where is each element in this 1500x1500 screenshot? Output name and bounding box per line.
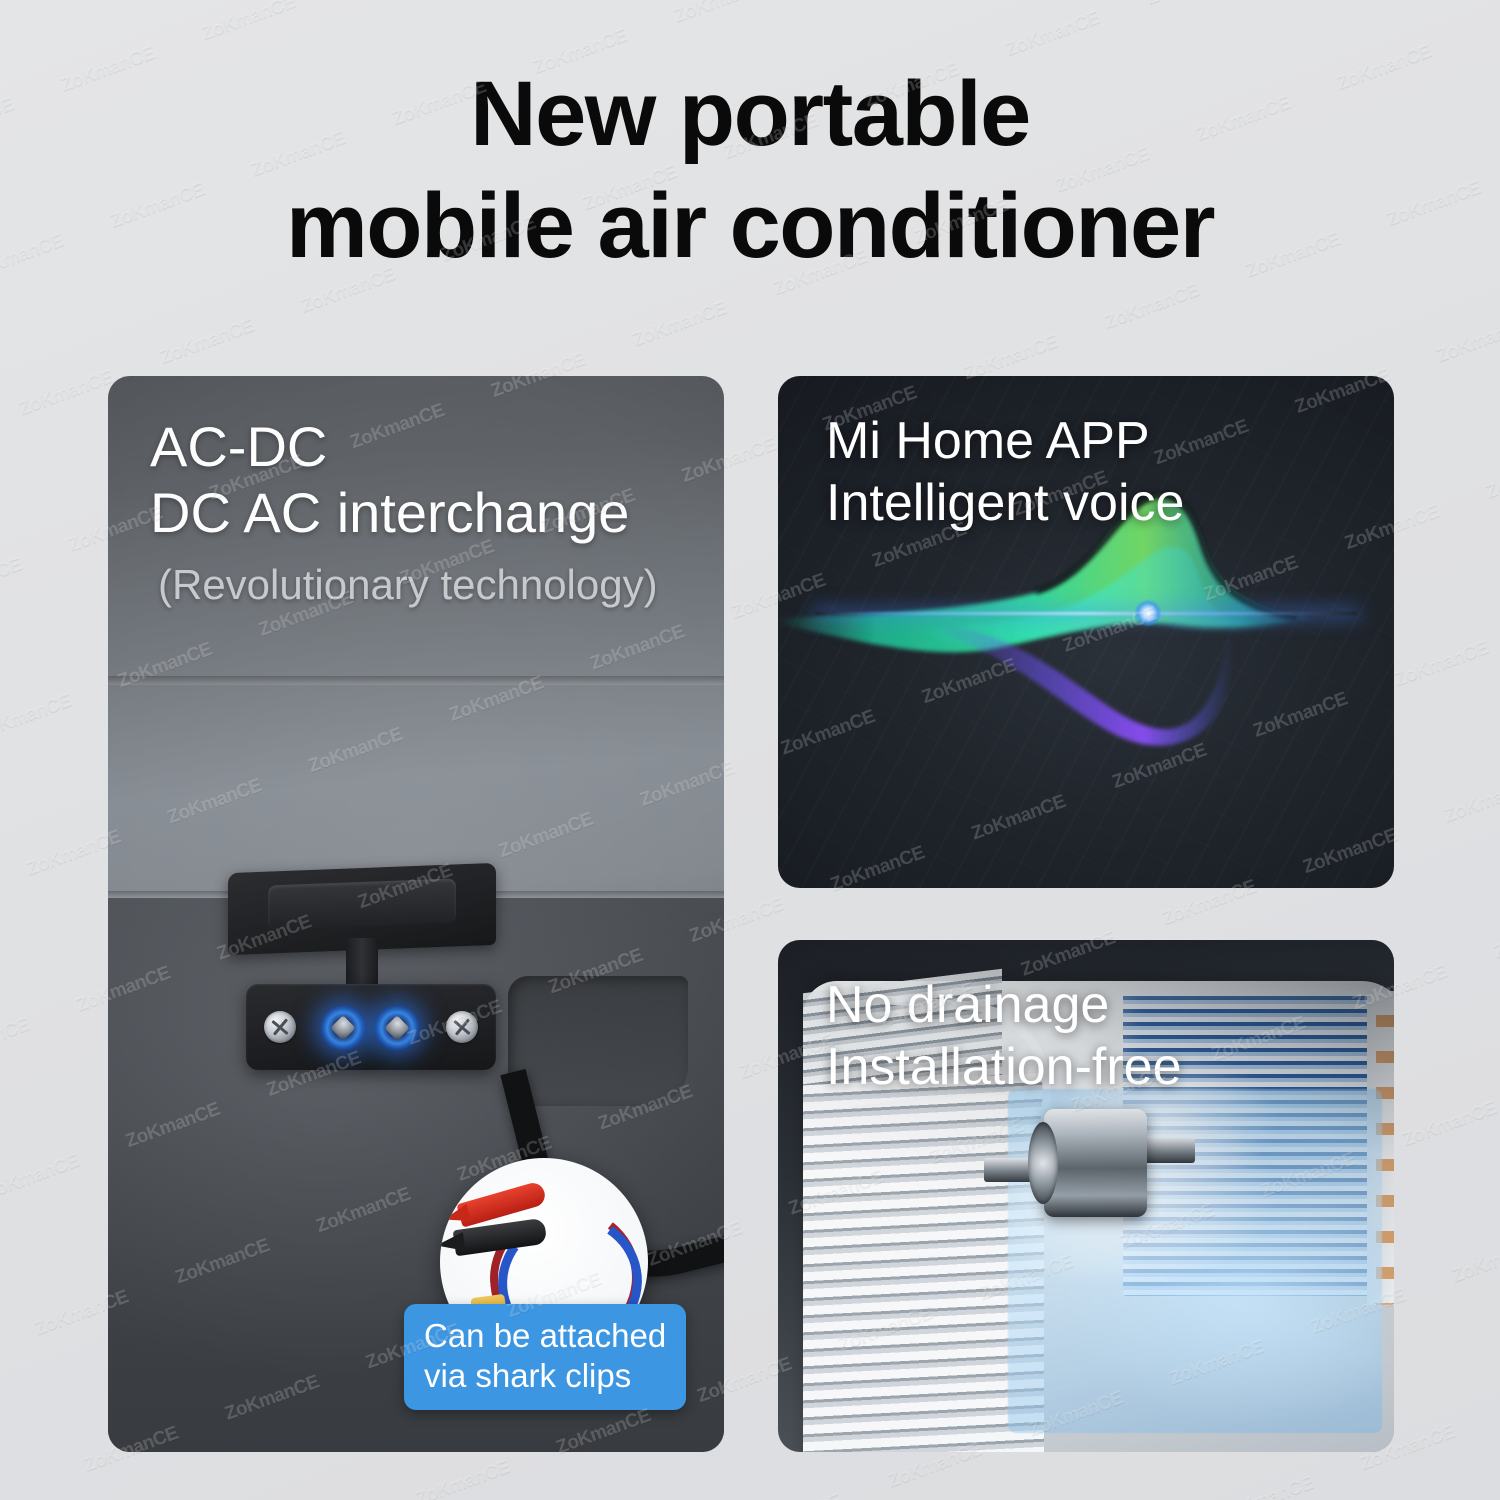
headline-line-2: mobile air conditioner xyxy=(0,170,1500,282)
watermark-text: ZoKmanCE xyxy=(1384,159,1500,347)
watermark-text: ZoKmanCE xyxy=(622,0,813,7)
watermark-text: ZoKmanCE xyxy=(1449,1216,1500,1404)
headline-line-1: New portable xyxy=(0,58,1500,170)
watermark-text: ZoKmanCE xyxy=(1217,1455,1408,1500)
feature-panel-grid: AC-DC DC AC interchange (Revolutionary t… xyxy=(108,376,1394,1452)
badge-line-2: via shark clips xyxy=(424,1356,666,1396)
watermark-text: ZoKmanCE xyxy=(0,724,24,912)
watermark-text: ZoKmanCE xyxy=(580,143,771,331)
watermark-text: ZoKmanCE xyxy=(1491,892,1500,1080)
watermark-text: ZoKmanCE xyxy=(107,161,298,349)
watermark-text: ZoKmanCE xyxy=(1483,432,1500,620)
feature-panel-ac-dc[interactable]: AC-DC DC AC interchange (Revolutionary t… xyxy=(108,376,724,1452)
rotor-shaft-right xyxy=(1141,1138,1195,1163)
power-terminal-plate xyxy=(246,984,496,1070)
watermark-text: ZoKmanCE xyxy=(0,860,73,1048)
watermark-text: ZoKmanCE xyxy=(671,0,862,143)
watermark-text: ZoKmanCE xyxy=(340,0,531,110)
watermark-text: ZoKmanCE xyxy=(1144,0,1335,126)
power-terminal-negative xyxy=(374,1005,420,1051)
watermark-text: ZoKmanCE xyxy=(1003,0,1194,177)
wall-seam-upper xyxy=(108,676,724,685)
compressor-rotor xyxy=(1044,1109,1147,1217)
watermark-text: ZoKmanCE xyxy=(1285,0,1476,74)
panel-left-caption: AC-DC DC AC interchange (Revolutionary t… xyxy=(150,414,658,611)
feature-panel-mi-home-app[interactable]: Mi Home APP Intelligent voice xyxy=(778,376,1394,888)
watermark-text: ZoKmanCE xyxy=(0,76,107,264)
badge-line-1: Can be attached xyxy=(424,1316,666,1356)
screw-left-icon xyxy=(264,1011,296,1043)
watermark-text: ZoKmanCE xyxy=(1334,23,1500,211)
voice-beam-glow-dot xyxy=(1135,600,1161,626)
voice-beam-line xyxy=(815,612,1357,615)
watermark-text: ZoKmanCE xyxy=(911,177,1102,365)
watermark-text: ZoKmanCE xyxy=(439,195,630,383)
voice-waveform-icon xyxy=(778,376,1394,888)
watermark-text: ZoKmanCE xyxy=(1433,296,1500,484)
watermark-text: ZoKmanCE xyxy=(530,7,721,195)
watermark-text: ZoKmanCE xyxy=(1243,211,1434,399)
watermark-text: ZoKmanCE xyxy=(0,996,123,1184)
watermark-text: ZoKmanCE xyxy=(481,0,672,58)
screw-right-icon xyxy=(446,1011,478,1043)
ac-unit-housing xyxy=(803,981,1394,1452)
watermark-text: ZoKmanCE xyxy=(58,25,249,213)
watermark-text: ZoKmanCE xyxy=(0,264,16,452)
watermark-text: ZoKmanCE xyxy=(248,110,439,298)
watermark-text: ZoKmanCE xyxy=(1441,756,1500,944)
feature-panel-no-drainage[interactable]: No drainage Installation-free xyxy=(778,940,1394,1452)
status-badge: Can be attached via shark clips xyxy=(404,1304,686,1411)
watermark-text: ZoKmanCE xyxy=(721,92,912,280)
page-title: New portable mobile air conditioner xyxy=(0,58,1500,282)
watermark-text: ZoKmanCE xyxy=(812,0,1003,92)
watermark-text: ZoKmanCE xyxy=(199,0,390,161)
watermark-text: ZoKmanCE xyxy=(1392,619,1500,807)
left-title-line-1: AC-DC xyxy=(150,414,658,480)
left-subtitle: (Revolutionary technology) xyxy=(158,560,658,610)
watermark-text: ZoKmanCE xyxy=(1399,1080,1500,1268)
watermark-text: ZoKmanCE xyxy=(862,41,1053,229)
watermark-text: ZoKmanCE xyxy=(953,0,1144,41)
watermark-text: ZoKmanCE xyxy=(272,1490,463,1500)
watermark-text: ZoKmanCE xyxy=(744,1472,935,1500)
watermark-text: ZoKmanCE xyxy=(0,536,115,724)
watermark-text: ZoKmanCE xyxy=(1052,126,1243,314)
watermark-text: ZoKmanCE xyxy=(0,212,157,400)
left-title-line-2: DC AC interchange xyxy=(150,480,658,546)
watermark-text: ZoKmanCE xyxy=(1193,74,1384,262)
power-terminal-positive xyxy=(320,1005,366,1051)
watermark-text: ZoKmanCE xyxy=(389,58,580,246)
product-infographic: New portable mobile air conditioner xyxy=(0,0,1500,1500)
watermark-text: ZoKmanCE xyxy=(0,400,66,588)
